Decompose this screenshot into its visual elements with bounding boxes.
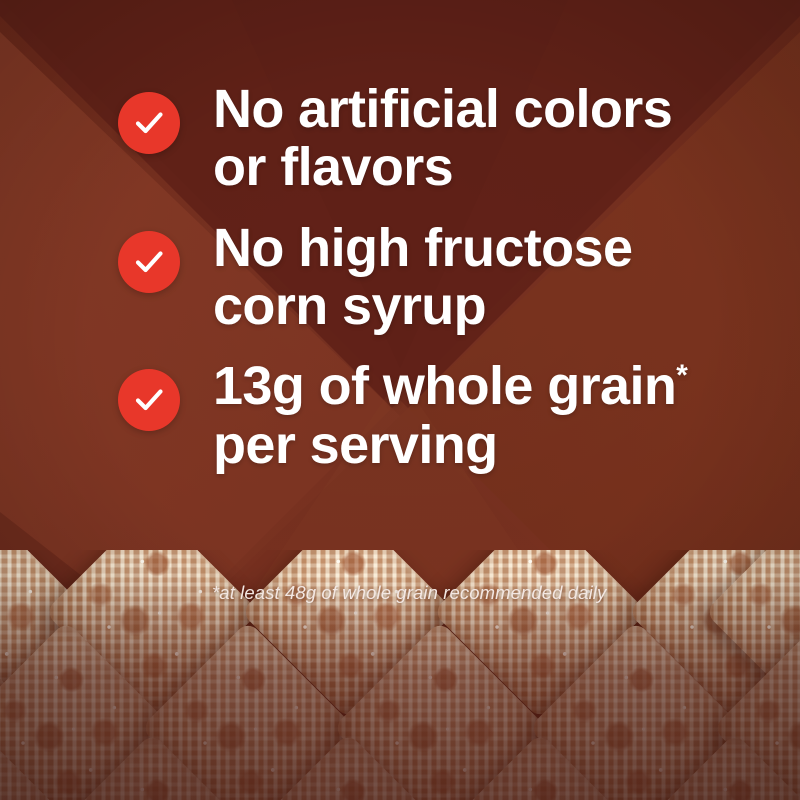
benefit-line-2: corn syrup	[213, 276, 486, 336]
check-circle-icon	[118, 231, 180, 293]
benefit-item-no-high-fructose-corn-syrup: No high fructose corn syrup	[118, 219, 738, 336]
check-circle-icon	[118, 92, 180, 154]
benefit-line-1: No artificial colors	[213, 79, 672, 139]
check-circle-icon	[118, 369, 180, 431]
benefit-text: No high fructose corn syrup	[213, 219, 738, 336]
benefit-item-no-artificial-colors: No artificial colors or flavors	[118, 80, 738, 197]
product-benefits-panel: No artificial colors or flavors No high …	[0, 0, 800, 800]
benefit-line-1: No high fructose	[213, 218, 632, 278]
benefit-line-1: 13g of whole grain	[213, 356, 676, 416]
footnote-text: *at least 48g of whole grain recommended…	[212, 582, 606, 604]
benefit-line-2: or flavors	[213, 137, 453, 197]
benefits-list: No artificial colors or flavors No high …	[118, 80, 738, 496]
benefit-text: 13g of whole grain* per serving	[213, 357, 738, 474]
benefit-line-2: per serving	[213, 415, 498, 475]
benefit-text: No artificial colors or flavors	[213, 80, 738, 197]
benefit-item-whole-grain: 13g of whole grain* per serving	[118, 357, 738, 474]
footnote-marker: *	[676, 359, 687, 392]
